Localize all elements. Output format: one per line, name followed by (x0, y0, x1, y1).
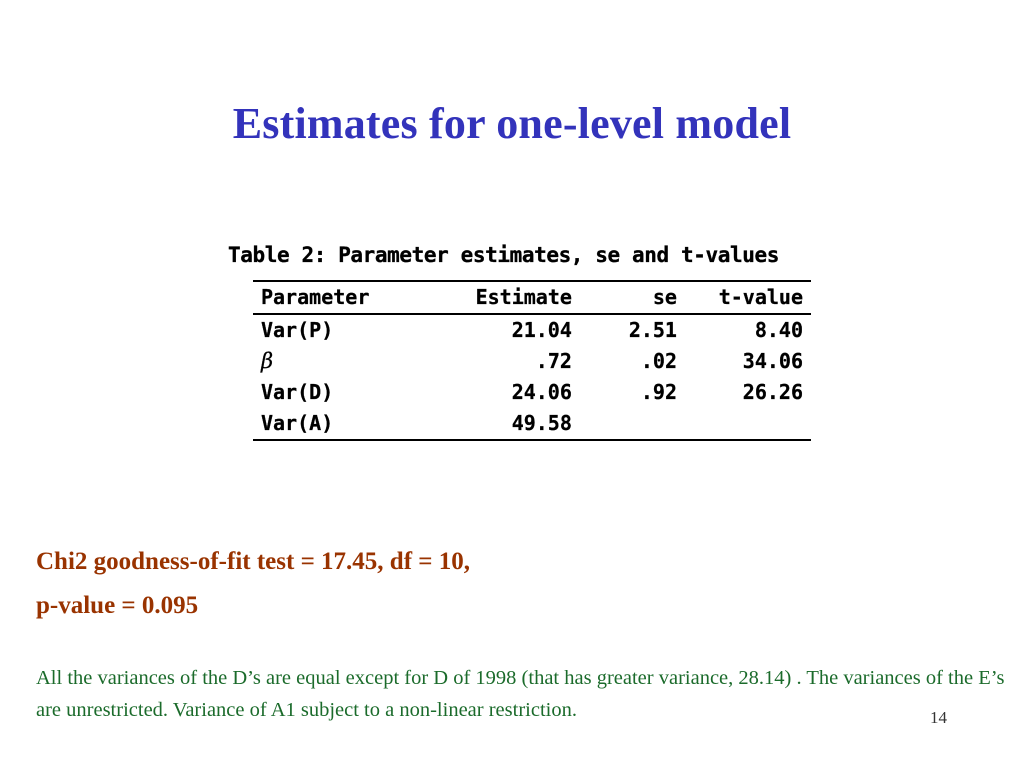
table-caption: Table 2: Parameter estimates, se and t-v… (228, 243, 813, 267)
table-row: Var(D) 24.06 .92 26.26 (253, 377, 811, 408)
cell-t-value: 26.26 (685, 377, 811, 408)
slide-canvas: Estimates for one-level model Table 2: P… (0, 0, 1024, 768)
cell-se: .92 (580, 377, 685, 408)
cell-estimate: .72 (429, 346, 580, 377)
column-header-parameter: Parameter (253, 281, 429, 314)
cell-estimate: 21.04 (429, 314, 580, 346)
chi2-line-2: p-value = 0.095 (36, 584, 996, 628)
table-row: Var(P) 21.04 2.51 8.40 (253, 314, 811, 346)
column-header-estimate: Estimate (429, 281, 580, 314)
cell-t-value (685, 408, 811, 440)
cell-parameter: Var(A) (253, 408, 429, 440)
column-header-se: se (580, 281, 685, 314)
cell-se (580, 408, 685, 440)
chi2-line-1: Chi2 goodness-of-fit test = 17.45, df = … (36, 540, 996, 584)
cell-estimate: 49.58 (429, 408, 580, 440)
cell-se: 2.51 (580, 314, 685, 346)
cell-parameter: β (253, 346, 429, 377)
column-header-t-value: t-value (685, 281, 811, 314)
table-row: Var(A) 49.58 (253, 408, 811, 440)
cell-parameter: Var(P) (253, 314, 429, 346)
goodness-of-fit-text: Chi2 goodness-of-fit test = 17.45, df = … (36, 540, 996, 628)
cell-t-value: 8.40 (685, 314, 811, 346)
page-number: 14 (930, 708, 947, 728)
cell-estimate: 24.06 (429, 377, 580, 408)
cell-parameter: Var(D) (253, 377, 429, 408)
parameter-estimates-table-figure: Table 2: Parameter estimates, se and t-v… (228, 243, 813, 441)
table-header-row: Parameter Estimate se t-value (253, 281, 811, 314)
cell-se: .02 (580, 346, 685, 377)
page-title: Estimates for one-level model (0, 98, 1024, 149)
table-row: β .72 .02 34.06 (253, 346, 811, 377)
parameter-estimates-table: Parameter Estimate se t-value Var(P) 21.… (253, 280, 811, 441)
cell-t-value: 34.06 (685, 346, 811, 377)
body-paragraph: All the variances of the D’s are equal e… (36, 662, 1008, 726)
